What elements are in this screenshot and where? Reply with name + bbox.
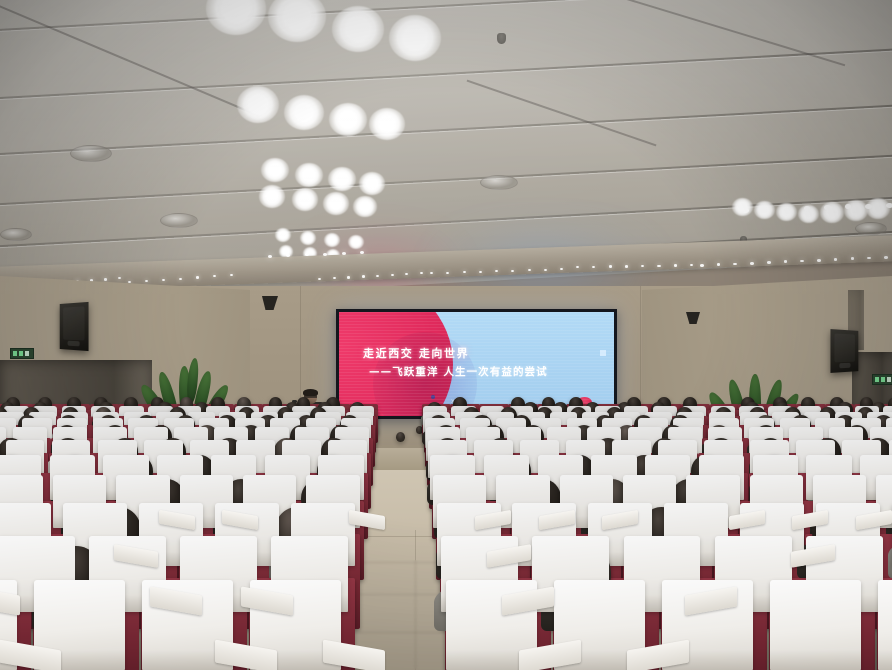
soffit-downlight	[804, 206, 811, 211]
soffit-downlight	[323, 253, 327, 256]
ceiling-downlight	[776, 203, 797, 221]
ceiling-downlight	[732, 198, 753, 216]
ceiling-downlight	[237, 86, 279, 123]
soffit-downlight	[767, 261, 771, 264]
soffit-downlight	[196, 276, 199, 278]
smoke-detector	[70, 145, 112, 162]
soffit-downlight	[884, 256, 888, 259]
right-wall-speaker	[830, 329, 858, 373]
soffit-downlight	[625, 265, 628, 267]
slide-dot-marker	[431, 395, 435, 399]
ceiling-downlight	[353, 196, 376, 216]
ceiling-downlight	[389, 15, 442, 61]
soffit-downlight	[886, 203, 892, 208]
soffit-downlight	[511, 270, 514, 272]
soffit-downlight	[817, 259, 821, 262]
ceiling-downlight	[292, 188, 317, 210]
soffit-downlight	[674, 264, 677, 266]
soffit-downlight	[700, 264, 704, 267]
ceiling-downlight	[332, 6, 385, 52]
soffit-downlight	[446, 272, 449, 274]
presenter-hair	[303, 389, 318, 396]
soffit-downlight	[162, 279, 165, 281]
ceiling-downlight	[295, 163, 322, 187]
smoke-detector	[0, 228, 32, 241]
soffit-downlight	[268, 255, 272, 258]
soffit-downlight	[347, 276, 350, 278]
soffit-downlight	[544, 269, 547, 271]
ceiling-diagonal-joint	[467, 80, 657, 146]
ceiling-downlight	[328, 167, 355, 191]
ceiling-downlight	[323, 192, 348, 214]
soffit-downlight	[750, 262, 754, 265]
slide-title: 走近西交 走向世界	[363, 345, 469, 361]
soffit-downlight	[479, 271, 482, 273]
sprinkler-head	[497, 33, 506, 44]
ceiling-downlight	[866, 198, 889, 218]
smoke-detector	[160, 213, 198, 228]
ceiling-seam	[0, 150, 892, 207]
ceiling-downlight	[369, 108, 405, 139]
soffit-downlight	[657, 265, 660, 267]
soffit-downlight	[362, 275, 365, 277]
soffit-downlight	[376, 275, 379, 277]
soffit-downlight	[145, 280, 148, 282]
seat-back-cover	[770, 580, 861, 670]
soffit-downlight	[824, 205, 831, 210]
soffit-downlight	[342, 252, 346, 255]
soffit-downlight	[609, 265, 612, 267]
seat-back-cover	[878, 580, 892, 670]
ceiling-downlight	[261, 158, 288, 182]
soffit-downlight	[865, 204, 872, 209]
ceiling-seam	[0, 0, 892, 34]
smoke-detector	[480, 175, 518, 190]
soffit-downlight	[783, 207, 790, 212]
left-wall-speaker	[60, 302, 89, 351]
ceiling-downlight	[259, 185, 284, 207]
soffit-downlight	[742, 208, 749, 213]
exit-sign-right	[872, 374, 892, 385]
ceiling-downlight	[329, 103, 367, 136]
ceiling-downlight	[359, 172, 384, 194]
lecture-hall-photo: 走近西交 走向世界 ——飞跃重洋 人生一次有益的尝试 xjtlu	[0, 0, 892, 670]
soffit-downlight	[360, 251, 364, 254]
audience-head-distant	[396, 432, 405, 442]
smoke-detector	[855, 222, 887, 235]
exit-sign-left	[10, 348, 34, 359]
soffit-downlight	[391, 274, 394, 276]
slide-corner-badge	[600, 350, 606, 356]
ceiling-downlight	[284, 95, 324, 130]
soffit-downlight	[463, 271, 466, 273]
ceiling-seam	[0, 45, 892, 102]
soffit-downlight	[179, 278, 182, 280]
soffit-downlight	[528, 269, 531, 271]
soffit-downlight	[104, 278, 107, 280]
slide-subtitle: ——飞跃重洋 人生一次有益的尝试	[369, 364, 548, 379]
ceiling-seam	[0, 101, 892, 158]
